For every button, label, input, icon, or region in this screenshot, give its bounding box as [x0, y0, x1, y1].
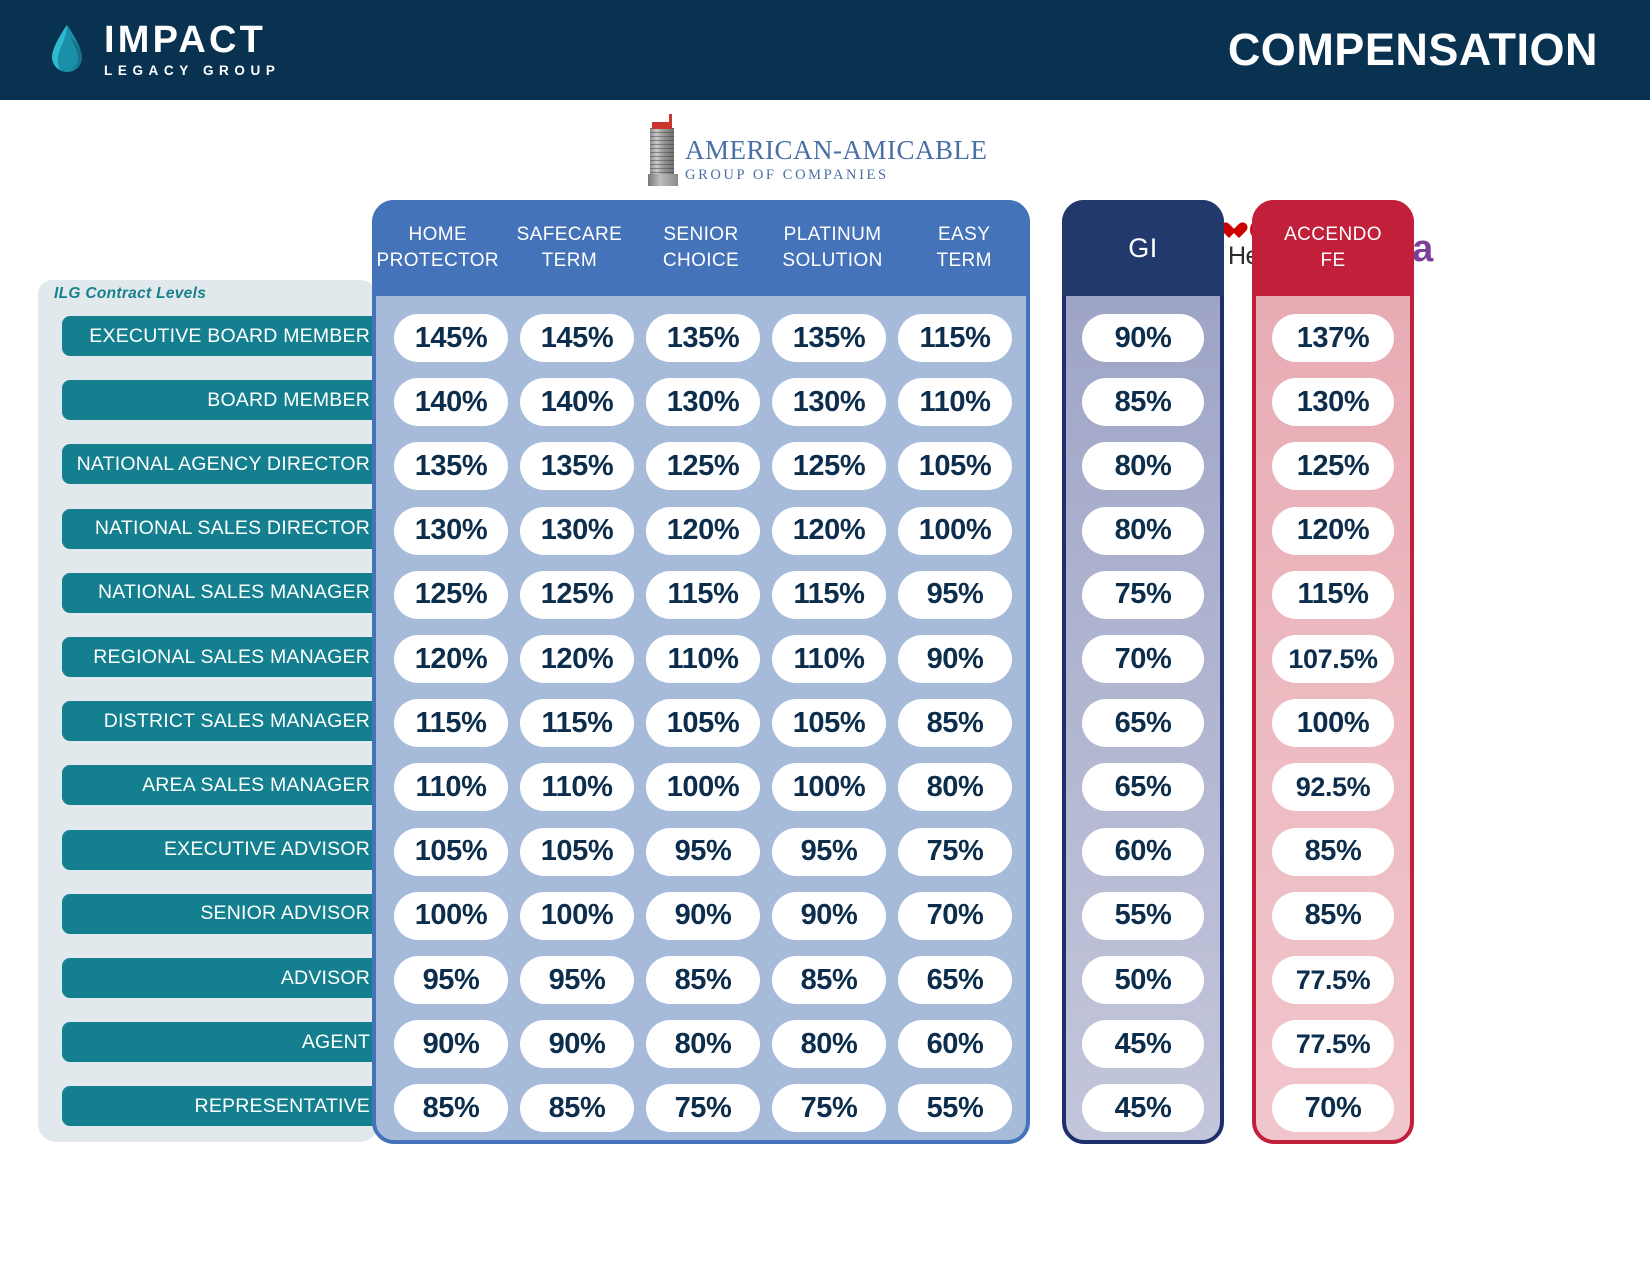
compensation-value-cell: 125%: [772, 442, 886, 490]
compensation-value-cell: 145%: [520, 314, 634, 362]
product-column-header-line: TERM: [542, 249, 597, 273]
compensation-value-cell: 115%: [646, 571, 760, 619]
product-column-header-line: CHOICE: [663, 249, 739, 273]
american-amicable-logo: AMERICAN-AMICABLE GROUP OF COMPANIES: [648, 114, 988, 186]
compensation-value: 77.5%: [1296, 1029, 1371, 1060]
compensation-value: 95%: [675, 835, 732, 868]
compensation-value-cell: 75%: [772, 1084, 886, 1132]
compensation-value: 105%: [667, 707, 740, 740]
compensation-value: 125%: [793, 450, 866, 483]
compensation-value: 100%: [667, 771, 740, 804]
compensation-value-cell: 50%: [1082, 956, 1204, 1004]
compensation-value-cell: 140%: [520, 378, 634, 426]
compensation-value-cell: 110%: [520, 763, 634, 811]
panel-american-amicable-header: HOMEPROTECTORSAFECARETERMSENIORCHOICEPLA…: [372, 200, 1030, 296]
compensation-value-cell: 55%: [1082, 892, 1204, 940]
compensation-value: 85%: [1305, 835, 1362, 868]
compensation-value: 75%: [1115, 578, 1172, 611]
compensation-value-cell: 65%: [1082, 699, 1204, 747]
compensation-value-cell: 45%: [1082, 1020, 1204, 1068]
compensation-value-cell: 75%: [1082, 571, 1204, 619]
compensation-value: 130%: [541, 514, 614, 547]
panel-gi-header: GI: [1062, 200, 1224, 296]
contract-level-label: REGIONAL SALES MANAGER: [93, 646, 370, 669]
product-column-header-line: SAFECARE: [517, 223, 623, 247]
compensation-value: 65%: [1115, 707, 1172, 740]
contract-level-label: EXECUTIVE BOARD MEMBER: [89, 325, 370, 348]
compensation-value-cell: 70%: [898, 892, 1012, 940]
compensation-value: 85%: [423, 1092, 480, 1125]
compensation-value: 75%: [675, 1092, 732, 1125]
compensation-value-cell: 135%: [646, 314, 760, 362]
compensation-value-cell: 115%: [394, 699, 508, 747]
contract-level-pill[interactable]: DISTRICT SALES MANAGER: [62, 701, 392, 741]
compensation-value-cell: 120%: [1272, 507, 1394, 555]
compensation-value-cell: 100%: [646, 763, 760, 811]
compensation-value-cell: 85%: [1272, 828, 1394, 876]
compensation-value: 90%: [1115, 322, 1172, 355]
compensation-value: 135%: [667, 322, 740, 355]
contract-level-pill[interactable]: ADVISOR: [62, 958, 392, 998]
compensation-value-cell: 107.5%: [1272, 635, 1394, 683]
heart-icon: [1228, 222, 1248, 240]
compensation-value: 130%: [793, 386, 866, 419]
compensation-value-cell: 55%: [898, 1084, 1012, 1132]
contract-level-label: AGENT: [302, 1031, 370, 1054]
compensation-value-cell: 110%: [394, 763, 508, 811]
compensation-value-cell: 90%: [520, 1020, 634, 1068]
compensation-value-cell: 100%: [520, 892, 634, 940]
brand-tagline: LEGACY GROUP: [104, 63, 280, 79]
contract-level-pill[interactable]: AGENT: [62, 1022, 392, 1062]
compensation-value-cell: 120%: [772, 507, 886, 555]
product-column-header-line: PROTECTOR: [377, 249, 500, 273]
compensation-value: 100%: [919, 514, 992, 547]
brand-logo: IMPACT LEGACY GROUP: [50, 21, 280, 79]
compensation-value: 105%: [541, 835, 614, 868]
compensation-value: 80%: [1115, 514, 1172, 547]
contract-level-label: NATIONAL SALES MANAGER: [98, 581, 370, 604]
contract-level-pill[interactable]: AREA SALES MANAGER: [62, 765, 392, 805]
compensation-value-cell: 95%: [772, 828, 886, 876]
panel-accendo-fe-header-line1: ACCENDO: [1284, 223, 1382, 247]
compensation-value-cell: 95%: [898, 571, 1012, 619]
compensation-value-cell: 120%: [394, 635, 508, 683]
compensation-value-cell: 125%: [646, 442, 760, 490]
compensation-value: 115%: [668, 578, 739, 611]
compensation-value: 110%: [920, 386, 991, 419]
compensation-value: 90%: [675, 899, 732, 932]
compensation-value-cell: 115%: [898, 314, 1012, 362]
compensation-value: 85%: [927, 707, 984, 740]
compensation-value-cell: 75%: [646, 1084, 760, 1132]
contract-level-pill[interactable]: SENIOR ADVISOR: [62, 894, 392, 934]
compensation-value-cell: 100%: [394, 892, 508, 940]
compensation-value: 45%: [1115, 1092, 1172, 1125]
panel-accendo-fe-header-line2: FE: [1320, 249, 1345, 273]
compensation-value: 80%: [927, 771, 984, 804]
compensation-value-cell: 110%: [772, 635, 886, 683]
contract-level-label: SENIOR ADVISOR: [200, 902, 370, 925]
compensation-value: 85%: [1115, 386, 1172, 419]
compensation-value-cell: 105%: [772, 699, 886, 747]
compensation-value: 110%: [794, 643, 865, 676]
compensation-value: 115%: [416, 707, 487, 740]
compensation-value-cell: 135%: [520, 442, 634, 490]
compensation-value: 45%: [1115, 1028, 1172, 1061]
compensation-value-cell: 80%: [646, 1020, 760, 1068]
panel-accendo-fe-header: ACCENDO FE: [1252, 200, 1414, 296]
compensation-value: 95%: [423, 964, 480, 997]
compensation-value: 115%: [794, 578, 865, 611]
compensation-value: 140%: [415, 386, 488, 419]
compensation-value-cell: 130%: [772, 378, 886, 426]
brand-name: IMPACT: [104, 21, 280, 60]
compensation-value: 55%: [927, 1092, 984, 1125]
compensation-value: 75%: [927, 835, 984, 868]
compensation-value-cell: 120%: [520, 635, 634, 683]
compensation-value: 92.5%: [1296, 772, 1371, 803]
compensation-value-cell: 110%: [898, 378, 1012, 426]
compensation-value: 110%: [542, 771, 613, 804]
product-column-header-line: HOME: [408, 223, 467, 247]
contract-level-pill[interactable]: REPRESENTATIVE: [62, 1086, 392, 1126]
compensation-value: 85%: [675, 964, 732, 997]
contract-level-label: EXECUTIVE ADVISOR: [164, 838, 370, 861]
page-title: COMPENSATION: [1228, 24, 1598, 76]
compensation-value: 120%: [541, 643, 614, 676]
compensation-value-cell: 130%: [646, 378, 760, 426]
compensation-value: 55%: [1115, 899, 1172, 932]
contract-level-label: ADVISOR: [281, 967, 370, 990]
compensation-value: 95%: [927, 578, 984, 611]
compensation-value: 125%: [415, 578, 488, 611]
compensation-value-cell: 77.5%: [1272, 1020, 1394, 1068]
compensation-value: 105%: [793, 707, 866, 740]
compensation-value-cell: 100%: [772, 763, 886, 811]
compensation-value-cell: 77.5%: [1272, 956, 1394, 1004]
compensation-value: 90%: [549, 1028, 606, 1061]
compensation-value-cell: 90%: [646, 892, 760, 940]
compensation-value: 115%: [920, 322, 991, 355]
compensation-value-cell: 92.5%: [1272, 763, 1394, 811]
compensation-value: 65%: [1115, 771, 1172, 804]
compensation-value: 130%: [1297, 386, 1370, 419]
compensation-value-cell: 137%: [1272, 314, 1394, 362]
compensation-value-cell: 70%: [1272, 1084, 1394, 1132]
compensation-value-cell: 100%: [898, 507, 1012, 555]
compensation-value-cell: 80%: [1082, 442, 1204, 490]
compensation-value: 107.5%: [1288, 644, 1377, 675]
contract-level-label: REPRESENTATIVE: [195, 1095, 370, 1118]
compensation-value-cell: 90%: [772, 892, 886, 940]
compensation-value-cell: 125%: [520, 571, 634, 619]
compensation-value-cell: 65%: [898, 956, 1012, 1004]
compensation-value-cell: 105%: [646, 699, 760, 747]
product-column-header-line: SOLUTION: [782, 249, 882, 273]
contract-level-pill[interactable]: NATIONAL SALES DIRECTOR: [62, 509, 392, 549]
compensation-value: 120%: [667, 514, 740, 547]
compensation-value: 95%: [801, 835, 858, 868]
compensation-value-cell: 125%: [1272, 442, 1394, 490]
compensation-value-cell: 115%: [1272, 571, 1394, 619]
compensation-value: 100%: [1297, 707, 1370, 740]
contract-level-label: NATIONAL AGENCY DIRECTOR: [77, 453, 370, 476]
compensation-value-cell: 85%: [1272, 892, 1394, 940]
compensation-value-cell: 110%: [646, 635, 760, 683]
compensation-value-cell: 90%: [1082, 314, 1204, 362]
compensation-value-cell: 120%: [646, 507, 760, 555]
compensation-value-cell: 45%: [1082, 1084, 1204, 1132]
compensation-value: 135%: [793, 322, 866, 355]
american-amicable-name: AMERICAN-AMICABLE: [685, 137, 988, 164]
compensation-value-cell: 70%: [1082, 635, 1204, 683]
compensation-value: 60%: [927, 1028, 984, 1061]
compensation-value-cell: 115%: [520, 699, 634, 747]
compensation-value: 90%: [927, 643, 984, 676]
compensation-value-cell: 95%: [646, 828, 760, 876]
compensation-value: 120%: [793, 514, 866, 547]
compensation-value: 110%: [668, 643, 739, 676]
compensation-value: 130%: [415, 514, 488, 547]
compensation-value: 120%: [415, 643, 488, 676]
compensation-value: 130%: [667, 386, 740, 419]
contract-level-label: AREA SALES MANAGER: [142, 774, 370, 797]
compensation-value-cell: 130%: [394, 507, 508, 555]
compensation-value: 77.5%: [1296, 965, 1371, 996]
product-column-header: SENIORCHOICE: [635, 200, 767, 296]
product-column-header: PLATINUMSOLUTION: [767, 200, 899, 296]
compensation-value: 105%: [415, 835, 488, 868]
compensation-value-cell: 85%: [772, 956, 886, 1004]
compensation-value: 85%: [549, 1092, 606, 1125]
contract-level-pill[interactable]: REGIONAL SALES MANAGER: [62, 637, 392, 677]
compensation-value: 120%: [1297, 514, 1370, 547]
compensation-value: 70%: [1305, 1092, 1362, 1125]
compensation-value: 75%: [801, 1092, 858, 1125]
compensation-value: 137%: [1297, 322, 1370, 355]
compensation-value: 145%: [541, 322, 614, 355]
compensation-value-cell: 85%: [1082, 378, 1204, 426]
compensation-value-cell: 85%: [898, 699, 1012, 747]
compensation-value: 140%: [541, 386, 614, 419]
compensation-value-cell: 75%: [898, 828, 1012, 876]
contract-level-pill[interactable]: NATIONAL AGENCY DIRECTOR: [62, 444, 392, 484]
compensation-value-cell: 105%: [520, 828, 634, 876]
compensation-value-cell: 80%: [1082, 507, 1204, 555]
compensation-value: 100%: [541, 899, 614, 932]
product-column-header: EASYTERM: [898, 200, 1030, 296]
carrier-logo-strip: AMERICAN-AMICABLE GROUP OF COMPANIES AIG…: [0, 100, 1650, 200]
compensation-value: 80%: [675, 1028, 732, 1061]
compensation-value-cell: 90%: [898, 635, 1012, 683]
contract-level-pill[interactable]: EXECUTIVE BOARD MEMBER: [62, 316, 392, 356]
compensation-value: 135%: [541, 450, 614, 483]
compensation-value: 145%: [415, 322, 488, 355]
contract-level-label: NATIONAL SALES DIRECTOR: [95, 517, 370, 540]
compensation-value-cell: 85%: [520, 1084, 634, 1132]
tower-icon: [648, 114, 678, 186]
compensation-value-cell: 85%: [646, 956, 760, 1004]
product-column-header-line: TERM: [936, 249, 991, 273]
compensation-value-cell: 125%: [394, 571, 508, 619]
compensation-value: 125%: [541, 578, 614, 611]
compensation-value-cell: 130%: [520, 507, 634, 555]
contract-level-pill[interactable]: BOARD MEMBER: [62, 380, 392, 420]
compensation-value: 125%: [667, 450, 740, 483]
compensation-value: 70%: [927, 899, 984, 932]
compensation-value-cell: 90%: [394, 1020, 508, 1068]
page-header: IMPACT LEGACY GROUP COMPENSATION: [0, 0, 1650, 100]
contract-level-label: BOARD MEMBER: [207, 389, 370, 412]
compensation-value: 100%: [793, 771, 866, 804]
compensation-value-cell: 135%: [394, 442, 508, 490]
american-amicable-tagline: GROUP OF COMPANIES: [685, 168, 988, 183]
compensation-value-cell: 115%: [772, 571, 886, 619]
compensation-value-cell: 95%: [394, 956, 508, 1004]
compensation-value-cell: 105%: [898, 442, 1012, 490]
compensation-value: 135%: [415, 450, 488, 483]
compensation-value: 80%: [801, 1028, 858, 1061]
compensation-value: 60%: [1115, 835, 1172, 868]
contract-level-label: DISTRICT SALES MANAGER: [104, 710, 370, 733]
compensation-value: 95%: [549, 964, 606, 997]
compensation-value-cell: 95%: [520, 956, 634, 1004]
compensation-value: 85%: [801, 964, 858, 997]
compensation-value: 125%: [1297, 450, 1370, 483]
compensation-value-cell: 105%: [394, 828, 508, 876]
compensation-value-cell: 135%: [772, 314, 886, 362]
compensation-value-cell: 60%: [1082, 828, 1204, 876]
compensation-value-cell: 145%: [394, 314, 508, 362]
product-column-header: HOMEPROTECTOR: [372, 200, 504, 296]
product-column-header: SAFECARETERM: [504, 200, 636, 296]
panel-gi-header-label: GI: [1128, 233, 1158, 264]
contract-levels-tab-label: ILG Contract Levels: [54, 280, 206, 308]
compensation-value: 100%: [415, 899, 488, 932]
compensation-value: 115%: [1298, 578, 1369, 611]
compensation-value-cell: 130%: [1272, 378, 1394, 426]
product-column-header-line: PLATINUM: [784, 223, 882, 247]
compensation-value-cell: 80%: [772, 1020, 886, 1068]
compensation-value: 115%: [542, 707, 613, 740]
compensation-value-cell: 65%: [1082, 763, 1204, 811]
compensation-value: 50%: [1115, 964, 1172, 997]
compensation-value: 80%: [1115, 450, 1172, 483]
compensation-value-cell: 60%: [898, 1020, 1012, 1068]
compensation-value: 90%: [423, 1028, 480, 1061]
compensation-value-cell: 140%: [394, 378, 508, 426]
compensation-value: 90%: [801, 899, 858, 932]
compensation-value: 65%: [927, 964, 984, 997]
compensation-value-cell: 100%: [1272, 699, 1394, 747]
compensation-value: 105%: [919, 450, 992, 483]
contract-level-pill[interactable]: EXECUTIVE ADVISOR: [62, 830, 392, 870]
contract-level-pill[interactable]: NATIONAL SALES MANAGER: [62, 573, 392, 613]
compensation-value-cell: 85%: [394, 1084, 508, 1132]
compensation-value: 110%: [416, 771, 487, 804]
compensation-value: 70%: [1115, 643, 1172, 676]
water-drop-icon: [50, 24, 84, 76]
compensation-chart-page: IMPACT LEGACY GROUP COMPENSATION AMERICA…: [0, 0, 1650, 1275]
product-column-header-line: SENIOR: [663, 223, 738, 247]
compensation-value-cell: 80%: [898, 763, 1012, 811]
product-column-header-line: EASY: [938, 223, 990, 247]
compensation-value: 85%: [1305, 899, 1362, 932]
